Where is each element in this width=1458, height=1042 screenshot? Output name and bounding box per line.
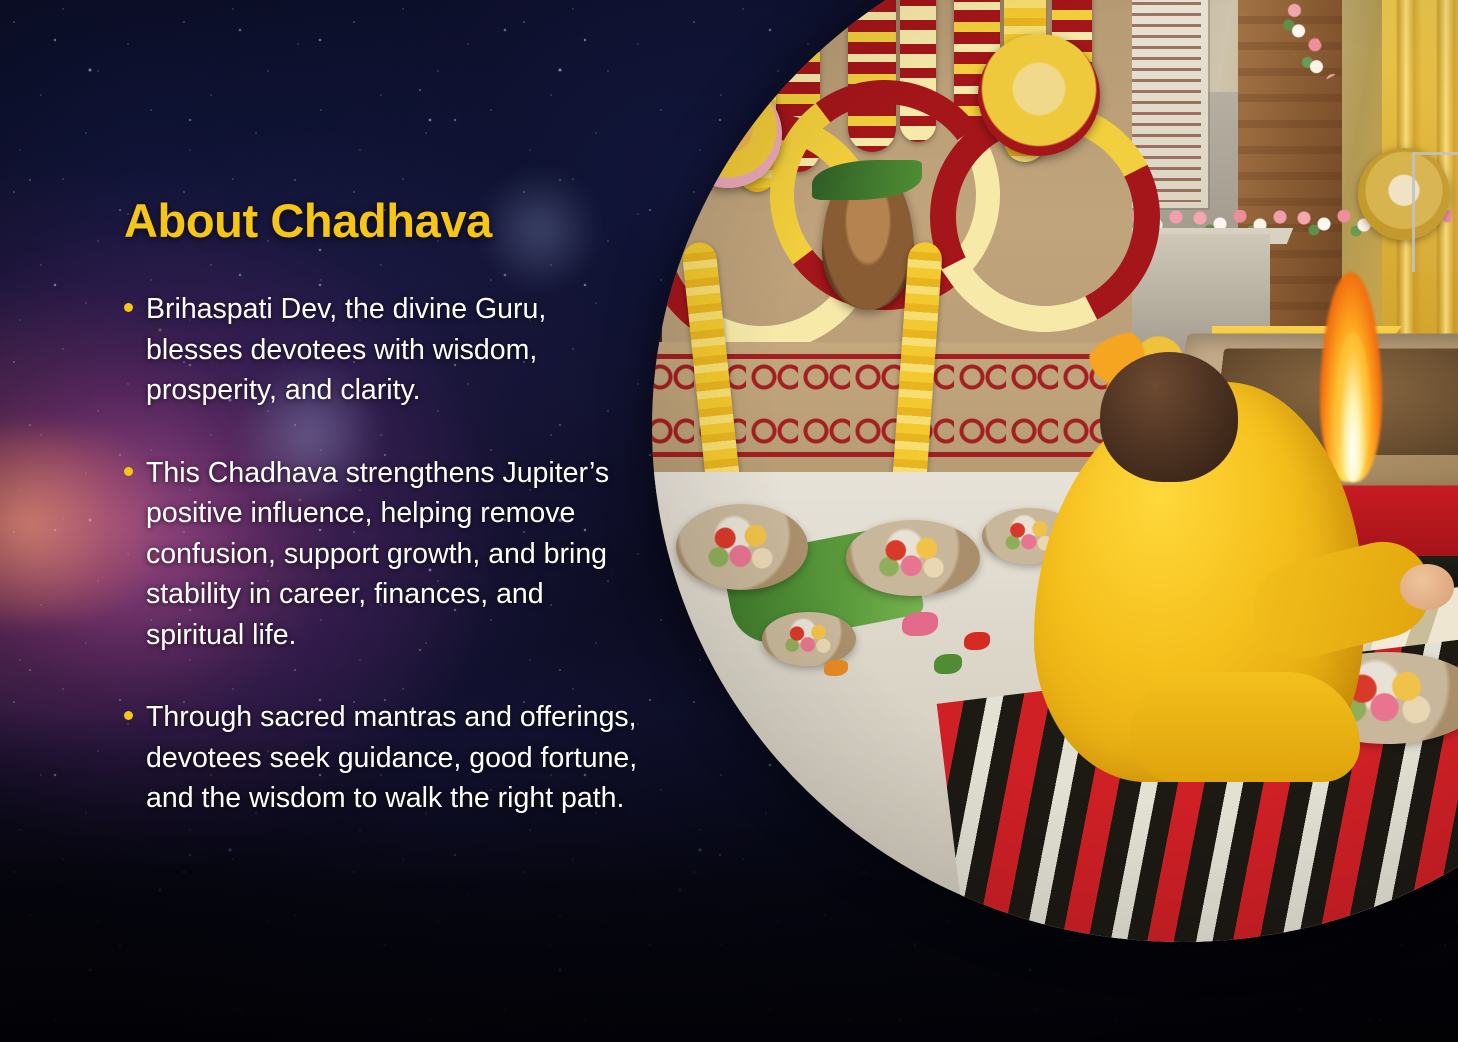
promo-banner: About Chadhava Brihaspati Dev, the divin… xyxy=(0,0,1458,1042)
offering-thali-center-contents xyxy=(870,534,956,583)
list-item-text: This Chadhava strengthens Jupiter’s posi… xyxy=(146,457,609,651)
bullet-dot-icon xyxy=(124,467,133,476)
offering-thali-center xyxy=(846,520,980,596)
scattered-petal-pink xyxy=(902,612,938,636)
priest-head xyxy=(1100,352,1238,482)
scattered-petal-orange xyxy=(824,660,848,676)
offering-thali-small-contents xyxy=(779,622,839,657)
list-item: Brihaspati Dev, the divine Guru, blesses… xyxy=(124,289,644,410)
page-title: About Chadhava xyxy=(124,196,664,245)
sacred-fire-core xyxy=(1336,332,1370,482)
deity-face-medallion-right xyxy=(978,34,1100,156)
priest-lap xyxy=(1130,672,1360,782)
scattered-petal-red xyxy=(964,632,990,650)
list-item: Through sacred mantras and offerings, de… xyxy=(124,697,644,818)
about-text-panel: About Chadhava Brihaspati Dev, the divin… xyxy=(124,196,664,819)
bullet-dot-icon xyxy=(124,711,133,720)
priest-hand xyxy=(1400,564,1454,610)
about-bullet-list: Brihaspati Dev, the divine Guru, blesses… xyxy=(124,289,664,818)
offering-bowl-large-contents xyxy=(700,519,785,574)
offering-bowl-large xyxy=(676,504,808,590)
puja-photo xyxy=(652,0,1458,942)
list-item-text: Brihaspati Dev, the divine Guru, blesses… xyxy=(146,293,546,406)
scattered-petal-green xyxy=(934,654,962,674)
offering-thali-small xyxy=(762,612,856,666)
list-item: This Chadhava strengthens Jupiter’s posi… xyxy=(124,453,644,655)
list-item-text: Through sacred mantras and offerings, de… xyxy=(146,701,637,814)
bullet-dot-icon xyxy=(124,303,133,312)
metal-barrier-rail xyxy=(1412,152,1458,272)
puja-photo-content xyxy=(652,0,1458,942)
